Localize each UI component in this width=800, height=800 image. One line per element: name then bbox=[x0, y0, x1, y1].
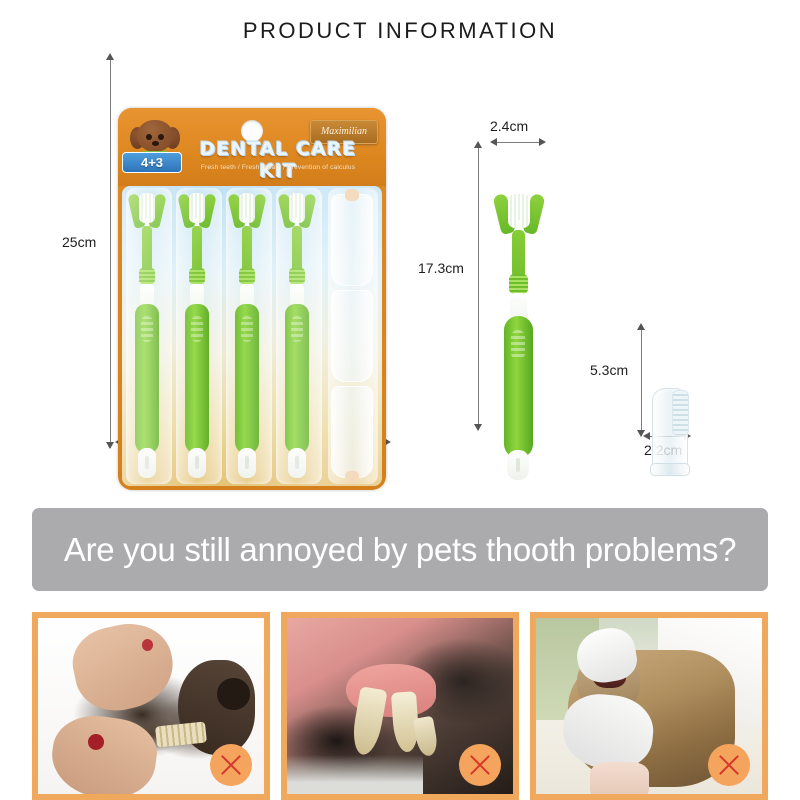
product-information-page: PRODUCT INFORMATION 25cm 17.5cm 4+3 Maxi… bbox=[0, 0, 800, 800]
headline-text: Are you still annoyed by pets thooth pro… bbox=[64, 531, 736, 569]
package-height-arrow-top bbox=[106, 53, 114, 60]
triple-sided-toothbrush-icon bbox=[492, 192, 546, 480]
count-badge: 4+3 bbox=[122, 152, 182, 173]
package-tagline: Fresh teeth / Fresh breath / Prevention … bbox=[178, 164, 378, 171]
problem-photo bbox=[281, 612, 519, 800]
finger-brush-height-dimension-line bbox=[641, 328, 642, 436]
cross-mark-icon bbox=[708, 744, 750, 786]
toothbrush-length-label: 17.3cm bbox=[418, 260, 464, 276]
packaged-toothbrush bbox=[175, 192, 219, 482]
finger-brush-height-arrow-top bbox=[637, 323, 645, 330]
packaged-toothbrush bbox=[225, 192, 269, 482]
package-product-name: DENTAL CARE KIT bbox=[178, 138, 378, 182]
problem-photo-row bbox=[32, 612, 768, 800]
toothbrush-head-arrow-left bbox=[490, 138, 497, 146]
package-height-arrow-bottom bbox=[106, 442, 114, 449]
toothbrush-length-arrow-bottom bbox=[474, 424, 482, 431]
packaged-toothbrush bbox=[125, 192, 169, 482]
finger-brush-width-arrow-left bbox=[643, 432, 650, 440]
packaged-finger-brush bbox=[331, 194, 373, 286]
toothbrush-length-dimension-line bbox=[478, 146, 479, 430]
cross-mark-icon bbox=[210, 744, 252, 786]
page-title: PRODUCT INFORMATION bbox=[0, 18, 800, 44]
specification-area: 25cm 17.5cm 4+3 Maximilian DENTAL CARE K… bbox=[0, 50, 800, 490]
packaged-finger-brush bbox=[331, 290, 373, 382]
finger-toothbrush-icon bbox=[650, 380, 696, 480]
cross-mark-icon bbox=[459, 744, 501, 786]
packaged-toothbrush bbox=[275, 192, 319, 482]
toothbrush-head-width-line bbox=[495, 142, 541, 143]
toothbrush-head-width-label: 2.4cm bbox=[490, 118, 528, 134]
product-package: 4+3 Maximilian DENTAL CARE KIT Fresh tee… bbox=[118, 108, 386, 490]
headline-banner: Are you still annoyed by pets thooth pro… bbox=[32, 508, 768, 591]
problem-photo bbox=[530, 612, 768, 800]
package-height-dimension-line bbox=[110, 58, 111, 448]
toothbrush-head-arrow-right bbox=[539, 138, 546, 146]
finger-brush-height-label: 5.3cm bbox=[590, 362, 628, 378]
blister-tray bbox=[122, 186, 382, 486]
packaged-finger-brush bbox=[331, 386, 373, 478]
problem-photo bbox=[32, 612, 270, 800]
package-height-label: 25cm bbox=[62, 234, 96, 250]
toothbrush-length-arrow-top bbox=[474, 141, 482, 148]
